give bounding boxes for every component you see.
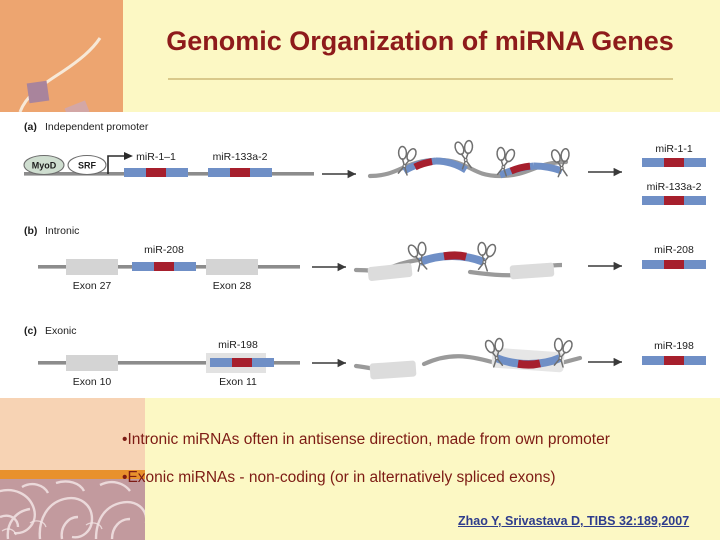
svg-text:miR-208: miR-208: [654, 244, 694, 256]
svg-text:Independent promoter: Independent promoter: [45, 121, 149, 133]
slide-canvas: Genomic Organization of miRNA Genes: [0, 0, 720, 540]
svg-text:Exonic: Exonic: [45, 325, 77, 337]
list-item: •Exonic miRNAs - non-coding (or in alter…: [122, 468, 720, 487]
mirna-genomic-organization-diagram: (a) Independent promoter MyoD SRF miR-1–…: [0, 112, 720, 398]
svg-text:(b): (b): [24, 225, 37, 237]
bullet-text: Exonic miRNAs - non-coding (or in altern…: [127, 469, 555, 486]
svg-text:(c): (c): [24, 325, 37, 337]
citation-link[interactable]: Zhao Y, Srivastava D, TIBS 32:189,2007: [458, 514, 689, 528]
svg-text:Intronic: Intronic: [45, 225, 79, 237]
svg-text:(a): (a): [24, 121, 37, 133]
svg-text:Exon 11: Exon 11: [219, 376, 257, 388]
list-item: •Intronic miRNAs often in antisense dire…: [122, 430, 720, 449]
title-divider: [168, 78, 673, 80]
svg-text:miR-198: miR-198: [654, 340, 694, 352]
svg-text:MyoD: MyoD: [32, 161, 57, 171]
svg-text:miR-133a-2: miR-133a-2: [213, 151, 268, 163]
svg-text:SRF: SRF: [78, 161, 97, 171]
decorative-orange-band: [0, 0, 123, 112]
svg-text:miR-208: miR-208: [144, 244, 184, 256]
svg-text:miR-133a-2: miR-133a-2: [647, 181, 702, 193]
svg-text:Exon 28: Exon 28: [213, 280, 252, 292]
svg-text:Exon 27: Exon 27: [73, 280, 112, 292]
svg-text:Exon 10: Exon 10: [73, 376, 112, 388]
page-title: Genomic Organization of miRNA Genes: [130, 26, 710, 57]
svg-text:miR-198: miR-198: [218, 339, 258, 351]
bullet-list: •Intronic miRNAs often in antisense dire…: [122, 430, 720, 506]
svg-text:miR-1–1: miR-1–1: [136, 151, 176, 163]
svg-text:miR-1-1: miR-1-1: [655, 143, 692, 155]
figure-panel: (a) Independent promoter MyoD SRF miR-1–…: [0, 112, 720, 398]
bullet-text: Intronic miRNAs often in antisense direc…: [127, 431, 609, 448]
decorative-swoosh-icon: [0, 0, 123, 112]
